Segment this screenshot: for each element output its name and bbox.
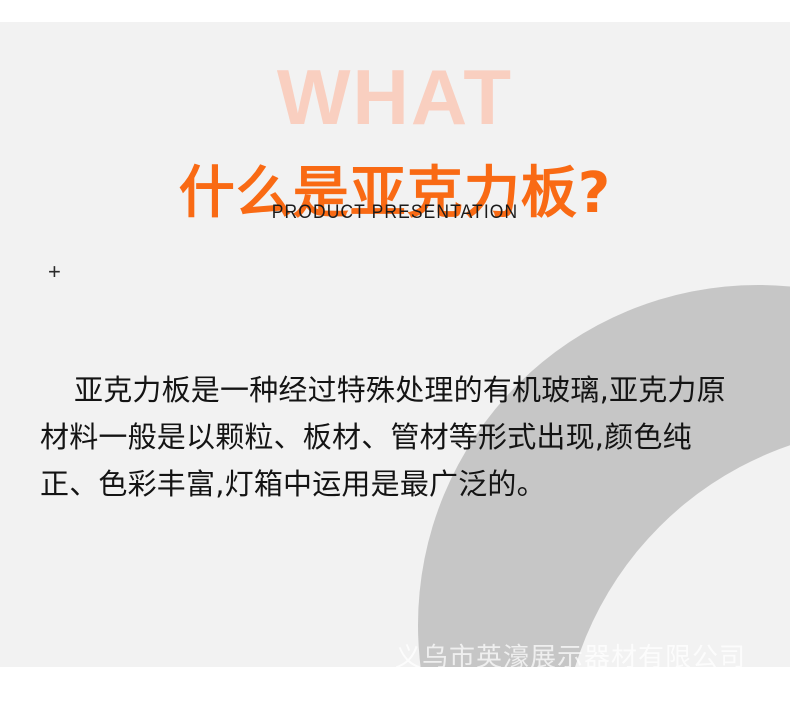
content-panel: WHAT 什么是亚克力板? PRODUCT PRESENTATION + 亚克力… <box>0 22 790 667</box>
page-subtitle: PRODUCT PRESENTATION <box>32 201 759 225</box>
product-presentation-page: WHAT 什么是亚克力板? PRODUCT PRESENTATION + 亚克力… <box>0 0 790 707</box>
plus-icon: + <box>48 261 61 283</box>
ghost-watermark-heading: WHAT <box>0 58 790 136</box>
watermark-company-name: 义乌市英濠展示器材有限公司 <box>0 642 746 667</box>
body-paragraph: 亚克力板是一种经过特殊处理的有机玻璃,亚克力原材料一般是以颗粒、板材、管材等形式… <box>40 367 746 508</box>
